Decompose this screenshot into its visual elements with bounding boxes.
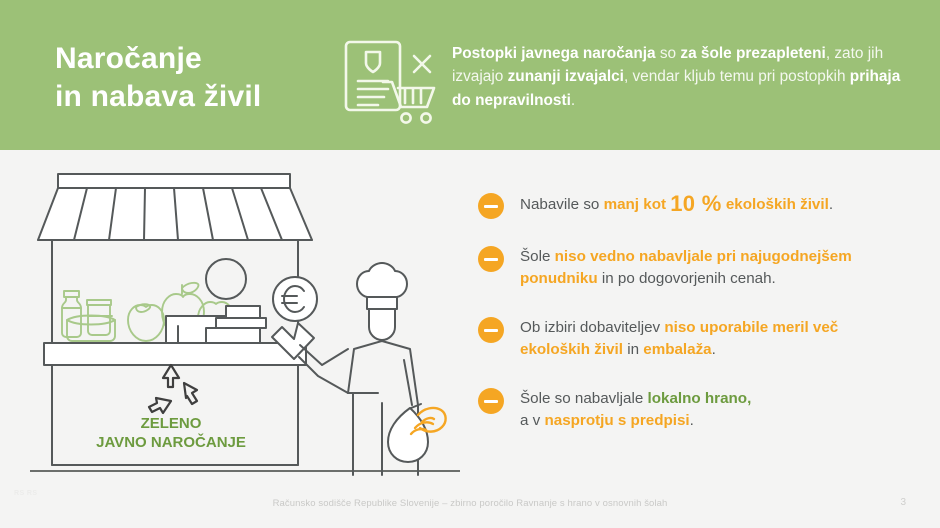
main-stage: ZELENO JAVNO NAROČANJE (0, 150, 940, 528)
list-item-text: Šole niso vedno nabavljale pri najugodne… (520, 245, 908, 290)
list-item: Šole niso vedno nabavljale pri najugodne… (478, 245, 908, 290)
header-banner: Naročanje in nabava živil (0, 0, 940, 150)
footer: RS RS Računsko sodišče Republike Sloveni… (0, 488, 940, 528)
page-number: 3 (900, 497, 906, 508)
list-item-text: Ob izbiri dobaviteljev niso uporabile me… (520, 316, 908, 361)
market-illustration: ZELENO JAVNO NAROČANJE (30, 160, 470, 480)
recycle-icon (149, 365, 197, 413)
shop-sign-line1: ZELENO (141, 415, 202, 432)
findings-list: Nabavile so manj kot 10 % ekoloških živi… (478, 192, 908, 458)
footer-source: Računsko sodišče Republike Slovenije – z… (0, 498, 940, 509)
list-item-text: Šole so nabavljale lokalno hrano,a v nas… (520, 387, 751, 432)
list-item: Ob izbiri dobaviteljev niso uporabile me… (478, 316, 908, 361)
euro-coin-icon (273, 277, 317, 321)
document-cart-icon (336, 32, 444, 128)
page-title: Naročanje in nabava živil (55, 40, 261, 117)
list-item: Šole so nabavljale lokalno hrano,a v nas… (478, 387, 908, 432)
cash-register-icon (166, 259, 266, 343)
no-entry-icon (478, 246, 504, 272)
list-item-text: Nabavile so manj kot 10 % ekoloških živi… (520, 192, 833, 216)
shop-sign-line2: JAVNO NAROČANJE (96, 433, 246, 451)
no-entry-icon (478, 388, 504, 414)
list-item: Nabavile so manj kot 10 % ekoloških živi… (478, 192, 908, 219)
slide-root: Naročanje in nabava živil (0, 0, 940, 528)
no-entry-icon (478, 193, 504, 219)
header-paragraph: Postopki javnega naročanja so za šole pr… (452, 42, 922, 112)
no-entry-icon (478, 317, 504, 343)
